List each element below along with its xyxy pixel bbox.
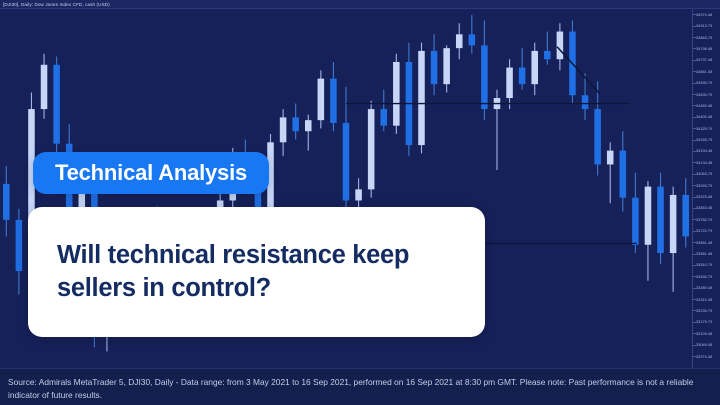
price-axis-tick: 33853.48 [696,205,712,210]
price-axis-tick: 33450.79 [696,274,712,279]
candle-bullish [456,34,463,48]
candle-bearish [632,198,639,245]
candle-bullish [443,48,450,84]
price-axis-tick: 32974.38 [696,354,712,359]
price-axis-tick-mark [693,140,696,141]
price-axis-tick-mark [693,254,696,255]
price-axis-tick-mark [693,71,696,72]
candle-bullish [506,68,513,98]
price-axis-tick-mark [693,299,696,300]
price-axis-tick: 34063.79 [696,171,712,176]
candle-bullish [531,51,538,84]
chart-symbol-header: [DJI30], Daily: Dow Jones Index CFD, cas… [0,0,720,9]
candle-bearish [292,117,299,131]
candle-bearish [3,184,10,220]
price-axis-tick: 34913.79 [696,23,712,28]
price-axis-tick-mark [693,197,696,198]
price-axis-tick: 33722.79 [696,228,712,233]
candle-bearish [330,79,337,123]
category-badge: Technical Analysis [33,152,269,194]
price-axis-tick: 33239.79 [696,308,712,313]
price-axis-tick: 33581.48 [696,251,712,256]
price-axis-tick: 33993.79 [696,183,712,188]
price-axis-tick-mark [693,117,696,118]
price-axis-tick-mark [693,14,696,15]
price-axis-tick-mark [693,60,696,61]
headline-text: Will technical resistance keep sellers i… [28,239,485,304]
price-axis[interactable]: 34974.4834913.7934863.7934798.4834737.48… [692,8,720,368]
price-axis-tick: 33310.48 [696,297,712,302]
candle-bullish [393,62,400,126]
price-axis-tick: 34863.79 [696,35,712,40]
price-axis-tick: 34798.48 [696,46,712,51]
candle-bearish [620,151,627,198]
technical-analysis-banner: 34974.4834913.7934863.7934798.4834737.48… [0,0,720,405]
price-axis-tick: 33923.48 [696,194,712,199]
candle-bullish [305,120,312,131]
price-axis-tick: 33380.48 [696,285,712,290]
price-axis-tick: 33651.48 [696,240,712,245]
candle-bearish [343,123,350,201]
price-axis-tick-mark [693,242,696,243]
candle-bullish [318,79,325,121]
price-axis-tick-mark [693,37,696,38]
annotation-descending-resistance [557,47,600,94]
price-axis-tick-mark [693,322,696,323]
candle-bearish [582,95,589,109]
candle-bearish [657,187,664,253]
price-axis-tick: 34974.48 [696,12,712,17]
price-axis-tick-mark [693,162,696,163]
price-axis-tick: 33109.48 [696,331,712,336]
price-axis-tick-mark [693,310,696,311]
source-disclaimer-text: Source: Admirals MetaTrader 5, DJI30, Da… [8,376,708,402]
price-axis-tick-mark [693,105,696,106]
price-axis-tick: 34460.48 [696,103,712,108]
source-disclaimer-bar: Source: Admirals MetaTrader 5, DJI30, Da… [0,368,720,405]
price-axis-tick-mark [693,345,696,346]
price-axis-tick-mark [693,288,696,289]
candle-bearish [544,51,551,59]
candle-bullish [607,151,614,165]
price-axis-tick-mark [693,185,696,186]
candle-bullish [280,117,287,142]
price-axis-tick: 33049.48 [696,342,712,347]
candle-bearish [380,109,387,126]
candle-bearish [469,34,476,45]
price-axis-tick: 34400.48 [696,114,712,119]
candle-bearish [519,68,526,85]
price-axis-tick-mark [693,208,696,209]
price-axis-tick-mark [693,83,696,84]
price-axis-tick: 34265.79 [696,137,712,142]
price-axis-tick: 34325.79 [696,126,712,131]
candle-bullish [41,65,48,109]
price-axis-tick-mark [693,26,696,27]
candle-bullish [645,187,652,245]
candle-bearish [682,195,689,237]
price-axis-tick: 34194.48 [696,148,712,153]
price-axis-tick: 33782.79 [696,217,712,222]
price-axis-tick-mark [693,231,696,232]
candle-bullish [557,32,564,60]
price-axis-tick: 34737.48 [696,57,712,62]
price-axis-tick-mark [693,333,696,334]
candle-bullish [368,109,375,189]
price-axis-tick-mark [693,151,696,152]
price-axis-tick-mark [693,94,696,95]
price-axis-tick-mark [693,128,696,129]
candle-bearish [594,109,601,164]
price-axis-tick-mark [693,276,696,277]
chart-symbol-label: [DJI30], Daily: Dow Jones Index CFD, cas… [3,0,110,9]
price-axis-tick: 34530.79 [696,92,712,97]
price-axis-tick-mark [693,174,696,175]
price-axis-tick-mark [693,265,696,266]
price-axis-tick-mark [693,219,696,220]
candle-bearish [53,65,60,144]
candle-bearish [16,220,23,271]
headline-card: Will technical resistance keep sellers i… [28,207,485,337]
price-axis-tick: 34661.48 [696,69,712,74]
candle-bullish [355,189,362,200]
candle-bullish [670,195,677,253]
price-axis-tick: 34134.48 [696,160,712,165]
price-axis-tick-mark [693,356,696,357]
category-badge-label: Technical Analysis [55,160,247,186]
candle-bullish [418,51,425,145]
price-axis-tick: 33179.79 [696,319,712,324]
candle-bearish [431,51,438,84]
price-axis-tick-mark [693,48,696,49]
candle-bearish [481,45,488,109]
price-axis-tick: 33510.79 [696,262,712,267]
price-axis-tick: 34590.79 [696,80,712,85]
